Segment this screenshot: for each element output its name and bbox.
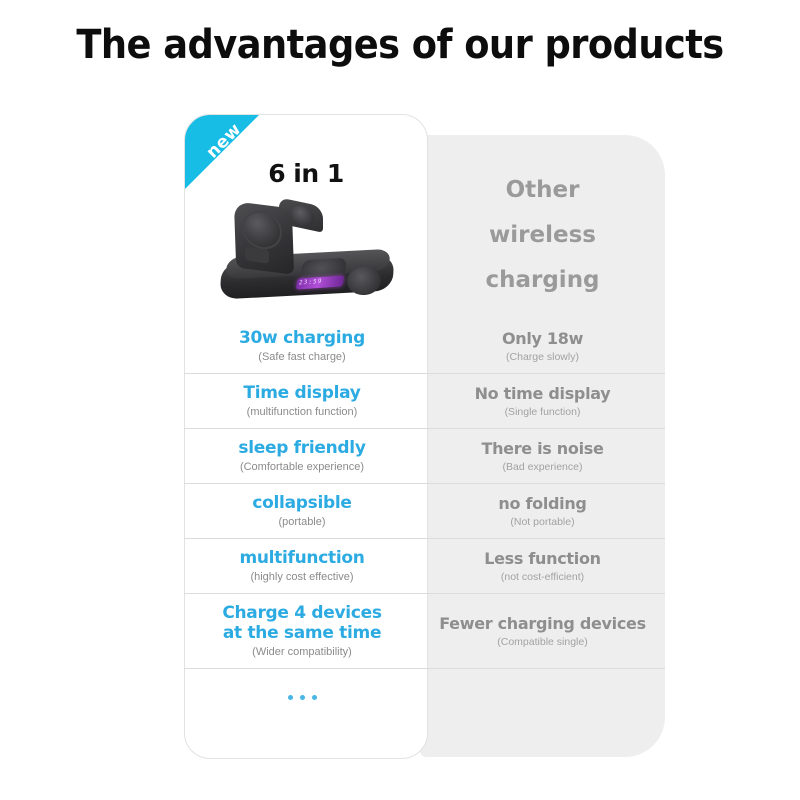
table-row: collapsible (portable) no folding (Not p… xyxy=(184,484,665,539)
other-title-line-1: Other xyxy=(420,168,665,213)
product-comparison: Other wireless charging new 6 in 1 23:59 xyxy=(0,0,800,800)
other-feature-note: (not cost-efficient) xyxy=(501,571,584,583)
other-feature-label: Fewer charging devices xyxy=(439,614,646,634)
row-ours-cell: sleep friendly (Comfortable experience) xyxy=(184,429,420,483)
ours-feature-note: (multifunction function) xyxy=(247,406,358,418)
other-feature-label: No time display xyxy=(475,384,611,404)
row-ours-cell: Charge 4 devices at the same time (Wider… xyxy=(184,594,420,668)
row-other-cell: No time display (Single function) xyxy=(420,374,665,428)
row-other-cell: There is noise (Bad experience) xyxy=(420,429,665,483)
table-row: Charge 4 devices at the same time (Wider… xyxy=(184,594,665,669)
table-row: sleep friendly (Comfortable experience) … xyxy=(184,429,665,484)
row-other-cell: Fewer charging devices (Compatible singl… xyxy=(420,594,665,668)
ours-feature-label: collapsible xyxy=(252,493,351,513)
row-ours-cell: multifunction (highly cost effective) xyxy=(184,539,420,593)
row-other-cell: Only 18w (Charge slowly) xyxy=(420,320,665,373)
other-feature-label: There is noise xyxy=(481,439,603,459)
dot-icon xyxy=(312,695,317,700)
table-row: Time display (multifunction function) No… xyxy=(184,374,665,429)
charger-base-round-pad-icon xyxy=(346,266,382,296)
row-other-cell: no folding (Not portable) xyxy=(420,484,665,538)
charger-time-value: 23:59 xyxy=(298,278,323,287)
ours-feature-label: sleep friendly xyxy=(238,438,365,458)
other-feature-note: (Bad experience) xyxy=(503,461,583,473)
other-feature-note: (Compatible single) xyxy=(497,636,587,648)
product-image: 23:59 xyxy=(213,201,403,311)
row-other-cell: Less function (not cost-efficient) xyxy=(420,539,665,593)
row-ours-cell: 30w charging (Safe fast charge) xyxy=(184,320,420,373)
other-title-line-3: charging xyxy=(420,258,665,303)
ours-feature-label: multifunction xyxy=(239,548,364,568)
table-row: 30w charging (Safe fast charge) Only 18w… xyxy=(184,320,665,374)
dot-icon xyxy=(300,695,305,700)
ours-feature-label: Charge 4 devices at the same time xyxy=(222,603,381,643)
other-feature-label: Only 18w xyxy=(502,329,583,349)
dot-icon xyxy=(288,695,293,700)
row-ours-cell: collapsible (portable) xyxy=(184,484,420,538)
other-product-title: Other wireless charging xyxy=(420,168,665,303)
ours-feature-note: (highly cost effective) xyxy=(250,571,353,583)
more-features-row xyxy=(184,669,665,700)
other-feature-note: (Charge slowly) xyxy=(506,351,579,363)
other-feature-label: Less function xyxy=(484,549,601,569)
ours-feature-label: 30w charging xyxy=(239,328,365,348)
ours-feature-label: Time display xyxy=(243,383,360,403)
ours-feature-note: (Safe fast charge) xyxy=(258,351,345,363)
other-feature-note: (Not portable) xyxy=(510,516,574,528)
ours-feature-note: (portable) xyxy=(278,516,325,528)
ours-feature-note: (Comfortable experience) xyxy=(240,461,364,473)
other-feature-label: no folding xyxy=(498,494,586,514)
other-feature-note: (Single function) xyxy=(505,406,581,418)
other-title-line-2: wireless xyxy=(420,213,665,258)
ours-feature-note: (Wider compatibility) xyxy=(252,646,352,658)
table-row: multifunction (highly cost effective) Le… xyxy=(184,539,665,594)
comparison-rows: 30w charging (Safe fast charge) Only 18w… xyxy=(184,320,665,700)
more-features-ellipsis xyxy=(184,669,420,700)
row-ours-cell: Time display (multifunction function) xyxy=(184,374,420,428)
